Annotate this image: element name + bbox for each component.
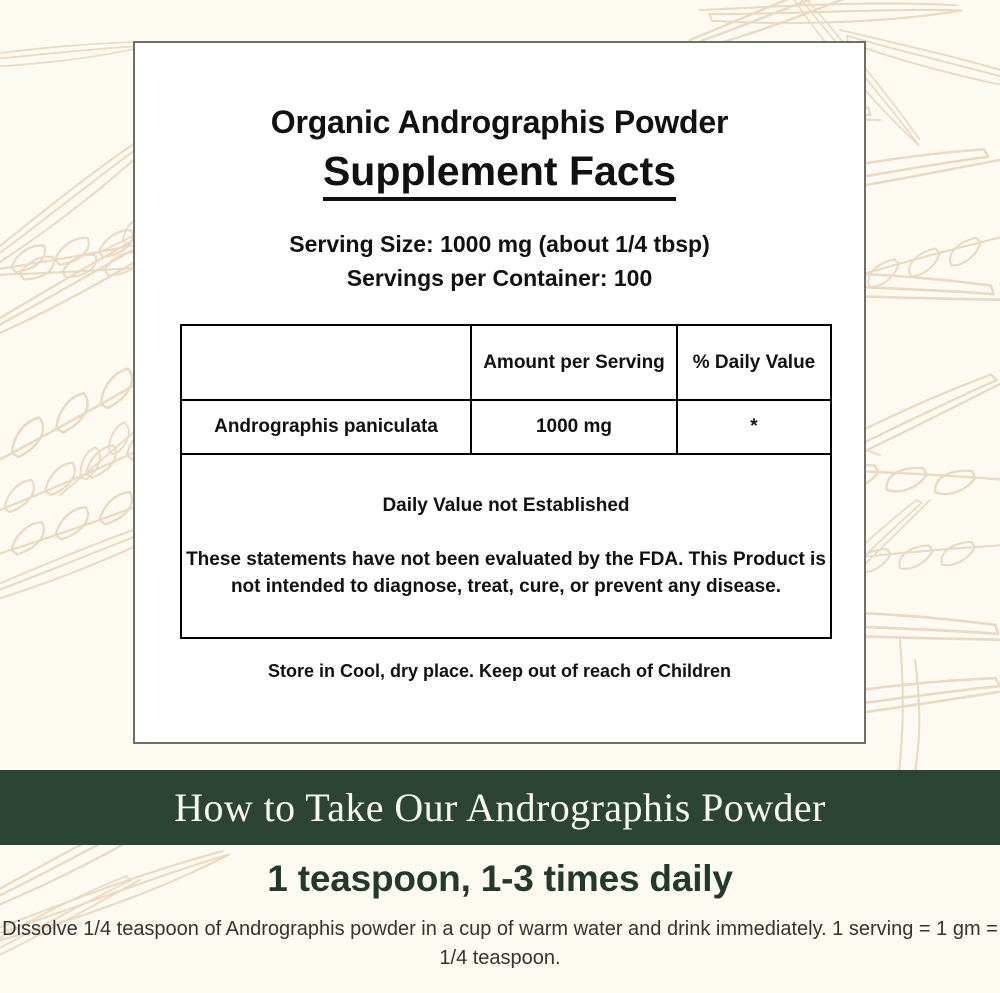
table-footnote-cell: Daily Value not Established These statem… [181, 454, 831, 638]
banner-title: How to Take Our Andrographis Powder [174, 788, 825, 828]
supplement-facts-heading: Supplement Facts [135, 140, 864, 201]
fda-disclaimer: These statements have not been evaluated… [182, 517, 830, 601]
daily-value-footnote: Daily Value not Established [182, 491, 830, 517]
supplement-facts-panel: Organic Andrographis Powder Supplement F… [133, 41, 866, 744]
nutrient-daily-value: * [677, 400, 831, 454]
column-header-nutrient [181, 325, 471, 400]
nutrient-amount: 1000 mg [471, 400, 677, 454]
column-header-amount-per-serving: Amount per Serving [471, 325, 677, 400]
nutrient-name: Andrographis paniculata [181, 400, 471, 454]
supplement-facts-table: Amount per Serving % Daily Value Androgr… [180, 324, 832, 639]
column-header-percent-daily-value: % Daily Value [677, 325, 831, 400]
serving-info-block: Serving Size: 1000 mg (about 1/4 tbsp) S… [135, 227, 864, 295]
product-title: Organic Andrographis Powder [135, 43, 864, 140]
how-to-take-banner: How to Take Our Andrographis Powder [0, 770, 1000, 845]
dosage-heading: 1 teaspoon, 1-3 times daily [0, 857, 1000, 901]
storage-instructions: Store in Cool, dry place. Keep out of re… [135, 661, 864, 682]
serving-size-line: Serving Size: 1000 mg (about 1/4 tbsp) [135, 227, 864, 261]
how-to-take-section: 1 teaspoon, 1-3 times daily Dissolve 1/4… [0, 857, 1000, 973]
table-header-row: Amount per Serving % Daily Value [181, 325, 831, 400]
table-footnote-row: Daily Value not Established These statem… [181, 454, 831, 638]
table-row: Andrographis paniculata 1000 mg * [181, 400, 831, 454]
servings-per-container-line: Servings per Container: 100 [135, 261, 864, 295]
dosage-detail: Dissolve 1/4 teaspoon of Andrographis po… [0, 901, 1000, 973]
supplement-label-page: Organic Andrographis Powder Supplement F… [0, 0, 1000, 993]
supplement-facts-heading-text: Supplement Facts [323, 149, 676, 201]
